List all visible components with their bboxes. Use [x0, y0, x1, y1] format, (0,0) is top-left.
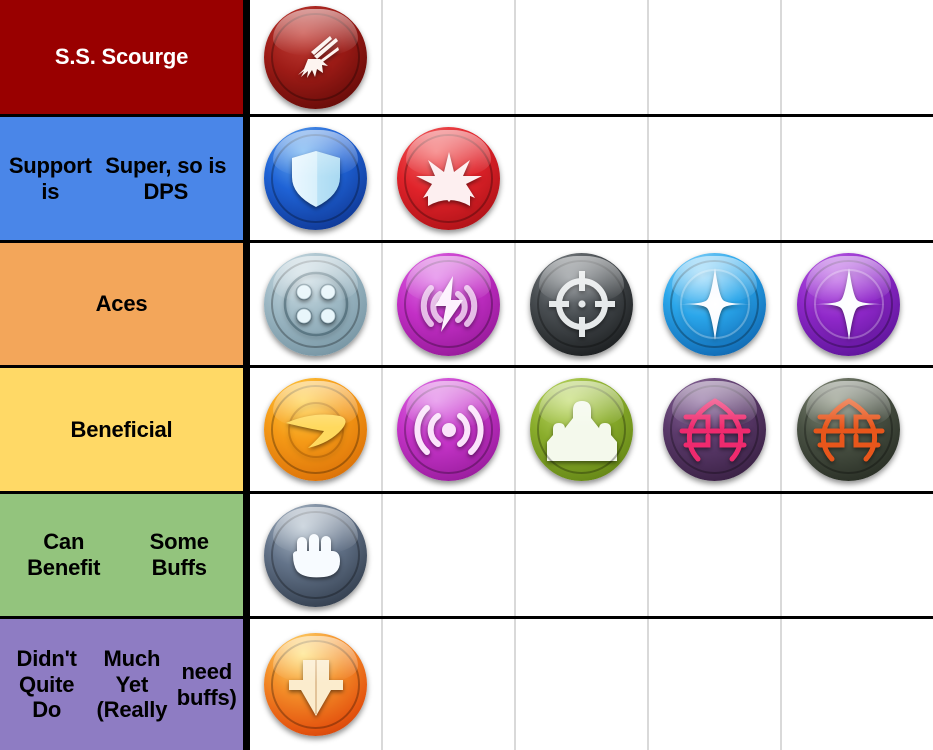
tier-label-line: Much Yet (Really: [87, 646, 176, 724]
tier-empty-cell[interactable]: [782, 0, 915, 114]
four-point-star-blue-icon[interactable]: [663, 253, 766, 356]
tier-empty-cell[interactable]: [649, 619, 782, 750]
tier-label-2[interactable]: Aces: [0, 243, 250, 365]
tier-row: Support isSuper, so is DPS: [0, 117, 933, 243]
tier-item-cell[interactable]: [516, 368, 649, 491]
tier-empty-cell[interactable]: [782, 117, 915, 240]
tier-row: Can BenefitSome Buffs: [0, 494, 933, 619]
star4-glyph: [663, 253, 766, 356]
tier-row: Beneficial: [0, 368, 933, 494]
star4-glyph: [797, 253, 900, 356]
fourdots-glyph: [264, 253, 367, 356]
bolt-glyph: [397, 253, 500, 356]
tier-empty-cell[interactable]: [649, 0, 782, 114]
shield-glyph: [264, 127, 367, 230]
tier-empty-cell[interactable]: [383, 619, 516, 750]
burst-star-icon[interactable]: [397, 127, 500, 230]
tier-empty-cell[interactable]: [649, 117, 782, 240]
minions-glyph: [530, 378, 633, 481]
tier-item-cell[interactable]: [383, 368, 516, 491]
tier-list-table: S.S. Scourge Support isSuper, so is DPS …: [0, 0, 933, 750]
swoosh-glyph: [264, 378, 367, 481]
tier-item-cell[interactable]: [250, 117, 383, 240]
lightning-bolt-icon[interactable]: [397, 253, 500, 356]
spider-orange-icon[interactable]: [797, 378, 900, 481]
tier-empty-cell[interactable]: [383, 494, 516, 616]
spider-glyph: [797, 378, 900, 481]
tier-row: Aces: [0, 243, 933, 368]
tier-empty-cell[interactable]: [516, 117, 649, 240]
comet-strike-icon[interactable]: [264, 6, 367, 109]
crosshair-target-icon[interactable]: [530, 253, 633, 356]
tier-empty-cell[interactable]: [782, 619, 915, 750]
tier-items-container: [250, 0, 933, 114]
tier-label-1[interactable]: Support isSuper, so is DPS: [0, 117, 250, 240]
speed-swoosh-icon[interactable]: [264, 378, 367, 481]
crosshair-glyph: [530, 253, 633, 356]
waves-glyph: [397, 378, 500, 481]
tier-item-cell[interactable]: [250, 368, 383, 491]
tier-label-line: Can Benefit: [6, 529, 121, 581]
tier-items-container: [250, 243, 933, 365]
tier-items-container: [250, 494, 933, 616]
tier-empty-cell[interactable]: [516, 494, 649, 616]
tier-label-0[interactable]: S.S. Scourge: [0, 0, 250, 114]
tier-item-cell[interactable]: [649, 243, 782, 365]
tier-item-cell[interactable]: [383, 243, 516, 365]
tier-row: S.S. Scourge: [0, 0, 933, 117]
tier-empty-cell[interactable]: [649, 494, 782, 616]
sonic-waves-icon[interactable]: [397, 378, 500, 481]
tier-label-line: Super, so is DPS: [95, 153, 237, 205]
burst-glyph: [397, 127, 500, 230]
tier-item-cell[interactable]: [250, 619, 383, 750]
tier-label-3[interactable]: Beneficial: [0, 368, 250, 491]
tier-label-line: S.S. Scourge: [55, 44, 188, 70]
tier-label-line: Aces: [96, 291, 148, 317]
fist-glyph: [264, 504, 367, 607]
fist-brawler-icon[interactable]: [264, 504, 367, 607]
tier-items-container: [250, 368, 933, 491]
tier-item-cell[interactable]: [250, 494, 383, 616]
tier-item-cell[interactable]: [383, 117, 516, 240]
tier-label-line: Didn't Quite Do: [6, 646, 87, 724]
tier-label-line: need buffs): [176, 659, 237, 711]
tier-item-cell[interactable]: [516, 243, 649, 365]
spider-glyph: [663, 378, 766, 481]
shield-defense-icon[interactable]: [264, 127, 367, 230]
tier-row: Didn't Quite DoMuch Yet (Reallyneed buff…: [0, 619, 933, 750]
tier-empty-cell[interactable]: [516, 619, 649, 750]
spider-pink-icon[interactable]: [663, 378, 766, 481]
tier-items-container: [250, 619, 933, 750]
tier-item-cell[interactable]: [782, 368, 915, 491]
tier-label-4[interactable]: Can BenefitSome Buffs: [0, 494, 250, 616]
four-point-star-purple-icon[interactable]: [797, 253, 900, 356]
tier-items-container: [250, 117, 933, 240]
tier-empty-cell[interactable]: [516, 0, 649, 114]
four-dots-disc-icon[interactable]: [264, 253, 367, 356]
tier-label-5[interactable]: Didn't Quite DoMuch Yet (Reallyneed buff…: [0, 619, 250, 750]
downarrow-glyph: [264, 633, 367, 736]
tier-label-line: Beneficial: [71, 417, 173, 443]
debuff-down-arrow-icon[interactable]: [264, 633, 367, 736]
tier-label-line: Some Buffs: [121, 529, 237, 581]
tier-empty-cell[interactable]: [383, 0, 516, 114]
tier-item-cell[interactable]: [250, 0, 383, 114]
tier-empty-cell[interactable]: [782, 494, 915, 616]
tier-item-cell[interactable]: [782, 243, 915, 365]
comet-glyph: [264, 6, 367, 109]
tier-item-cell[interactable]: [250, 243, 383, 365]
minions-group-icon[interactable]: [530, 378, 633, 481]
tier-item-cell[interactable]: [649, 368, 782, 491]
tier-label-line: Support is: [6, 153, 95, 205]
